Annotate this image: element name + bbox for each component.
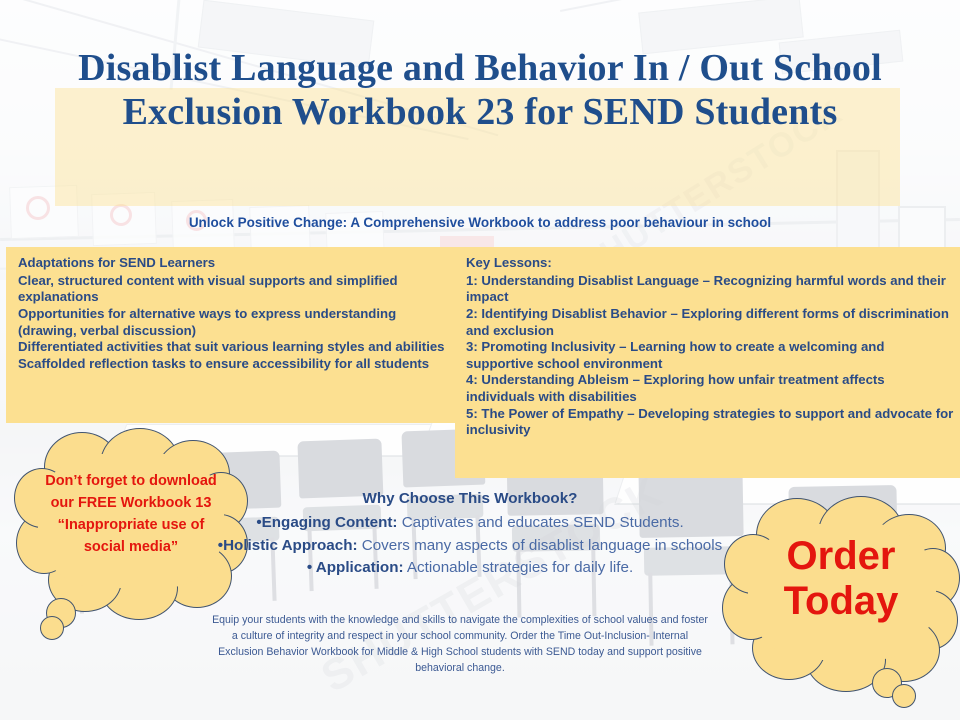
adaptations-item: Differentiated activities that suit vari… xyxy=(18,339,450,356)
why-choose-text: Actionable strategies for daily life. xyxy=(404,559,634,576)
adaptations-item: Scaffolded reflection tasks to ensure ac… xyxy=(18,356,450,373)
key-lessons-heading: Key Lessons: xyxy=(466,255,955,272)
why-choose-label: •Engaging Content: xyxy=(256,514,397,531)
footer-paragraph: Equip your students with the knowledge a… xyxy=(210,612,710,676)
adaptations-item: Clear, structured content with visual su… xyxy=(18,273,450,306)
adaptations-heading: Adaptations for SEND Learners xyxy=(18,255,450,272)
free-workbook-thought-bubble[interactable]: Don’t forget to download our FREE Workbo… xyxy=(14,428,246,643)
why-choose-section: Why Choose This Workbook? •Engaging Cont… xyxy=(215,488,725,580)
why-choose-label: • Application: xyxy=(307,559,404,576)
key-lessons-item: 3: Promoting Inclusivity – Learning how … xyxy=(466,339,955,372)
adaptations-item: Opportunities for alternative ways to ex… xyxy=(18,306,450,339)
thought-bubble-tail-small xyxy=(892,684,916,708)
why-choose-row: •Engaging Content: Captivates and educat… xyxy=(215,512,725,535)
key-lessons-item: 1: Understanding Disablist Language – Re… xyxy=(466,273,955,306)
slide-canvas: SHUTTERSTOCK SHUTTERSTOCK Disablist Lang… xyxy=(0,0,960,720)
adaptations-panel: Adaptations for SEND Learners Clear, str… xyxy=(6,247,460,423)
order-today-bubble-text: Order Today xyxy=(752,534,930,624)
why-choose-text: Covers many aspects of disablist languag… xyxy=(358,537,723,554)
why-choose-row: • Application: Actionable strategies for… xyxy=(215,557,725,580)
thought-bubble-tail-small xyxy=(40,616,64,640)
page-title: Disablist Language and Behavior In / Out… xyxy=(40,46,920,134)
free-workbook-bubble-text: Don’t forget to download our FREE Workbo… xyxy=(36,470,226,558)
why-choose-text: Captivates and educates SEND Students. xyxy=(397,514,683,531)
why-choose-row: •Holistic Approach: Covers many aspects … xyxy=(215,535,725,558)
key-lessons-item: 5: The Power of Empathy – Developing str… xyxy=(466,406,955,439)
key-lessons-panel: Key Lessons: 1: Understanding Disablist … xyxy=(455,247,960,478)
page-subtitle: Unlock Positive Change: A Comprehensive … xyxy=(60,215,900,230)
why-choose-label: •Holistic Approach: xyxy=(218,537,358,554)
key-lessons-item: 4: Understanding Ableism – Exploring how… xyxy=(466,372,955,405)
order-today-thought-bubble[interactable]: Order Today xyxy=(722,496,958,708)
why-choose-heading: Why Choose This Workbook? xyxy=(215,488,725,511)
key-lessons-item: 2: Identifying Disablist Behavior – Expl… xyxy=(466,306,955,339)
